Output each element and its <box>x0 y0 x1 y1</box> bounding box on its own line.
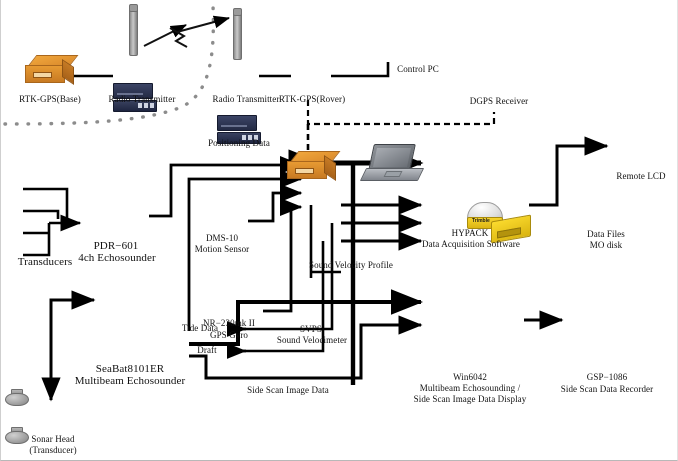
link-pdr601-hub <box>149 165 301 216</box>
shore-antenna-mast <box>129 8 138 56</box>
data-files-label-line1: Data Files <box>572 229 640 239</box>
control-pc-label: Control PC <box>389 64 447 74</box>
rtk-gps-rover[interactable] <box>287 151 335 181</box>
sonar-head-label-line1: Sonar Head <box>19 434 87 444</box>
gsp1086-label-line1: GSP−1086 <box>561 372 653 382</box>
link-rtkrover-controlpc <box>331 62 388 76</box>
svps-label-line2: Sound Velocimeter <box>267 335 357 345</box>
win6042-label-line2: Multibeam Echosounding / <box>405 383 535 393</box>
radio-transmitter-shore-label: Radio Transmitter <box>95 94 189 104</box>
rtk-gps-base-label: RTK-GPS(Base) <box>11 94 89 104</box>
win6042-label-line1: Win6042 <box>435 372 505 382</box>
transducer-harness <box>23 189 80 255</box>
svps-label-line1: SVPS <box>283 324 339 334</box>
vessel-antenna-mast <box>233 12 242 60</box>
remote-lcd-label: Remote LCD <box>609 171 673 181</box>
dms10-label-line2: Motion Sensor <box>182 244 262 254</box>
seabat-label-line2: Multibeam Echosounder <box>53 375 207 387</box>
link-seabat-display <box>51 300 94 332</box>
positioning-data-label: Positioning Data <box>191 138 287 148</box>
hypack-label-line1: HYPACK <box>433 228 507 238</box>
link-seabat-hub <box>189 179 301 331</box>
link-hypack-remotelcd <box>529 146 607 205</box>
pdr601-label-line2: 4ch Echosounder <box>61 252 173 264</box>
data-files-label-line2: MO disk <box>572 240 640 250</box>
hypack-label-line2: Data Acquisition Software <box>409 239 533 249</box>
sonar-head-label-line2: (Transducer) <box>19 445 87 455</box>
draft-label: Draft <box>184 345 230 355</box>
side-scan-image-data-label: Side Scan Image Data <box>223 385 353 395</box>
tide-data-label: Tide Data <box>171 323 229 333</box>
link-gyro-hub <box>263 207 301 311</box>
pdr601-label-line1: PDR−601 <box>76 240 156 252</box>
dgps-receiver-label: DGPS Receiver <box>453 96 545 106</box>
transducer-1 <box>5 389 27 405</box>
control-pc[interactable] <box>363 144 421 184</box>
sound-velocity-profile-label: Sound Velocity Profile <box>289 260 413 270</box>
rf-link-arrows <box>144 18 229 47</box>
win6042-label-line3: Side Scan Image Data Display <box>397 394 543 404</box>
rtk-gps-base[interactable] <box>25 55 73 85</box>
diagram-canvas: RTK-GPS(Base) Radio Transmitter Radio Tr… <box>0 0 678 461</box>
dms10-label-line1: DMS-10 <box>187 233 257 243</box>
seabat-label-line1: SeaBat8101ER <box>63 363 197 375</box>
rtk-gps-rover-label: RTK-GPS(Rover) <box>269 94 355 104</box>
gsp1086-label-line2: Side Scan Data Recorder <box>539 384 675 394</box>
